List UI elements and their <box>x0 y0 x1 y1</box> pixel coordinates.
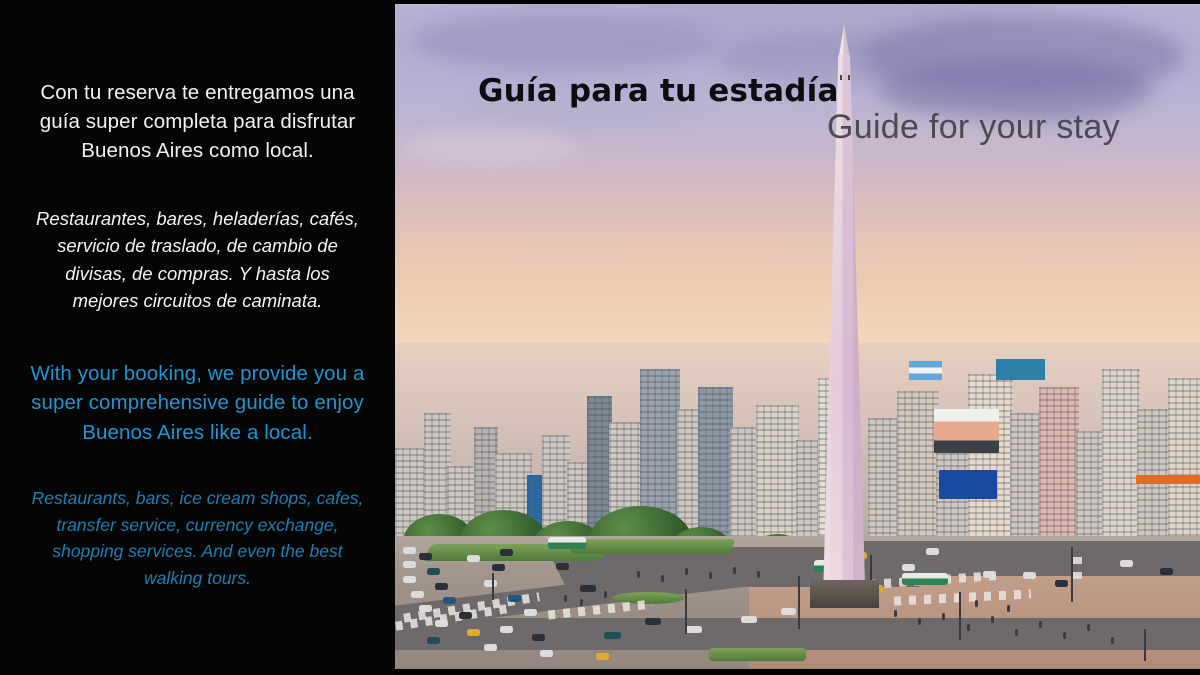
photo-bottom-letterbox <box>395 669 1200 675</box>
slide-root: Con tu reserva te entregamos una guía su… <box>0 0 1200 675</box>
billboard-blue <box>939 470 997 499</box>
billboard-screen <box>996 359 1046 381</box>
cloud <box>846 116 1055 157</box>
photo-panel: Guía para tu estadía Guide for your stay <box>395 0 1200 675</box>
paragraph-spanish-intro: Con tu reserva te entregamos una guía su… <box>22 78 373 165</box>
city-bus <box>548 537 586 549</box>
roadway <box>846 541 1200 576</box>
obelisco-photograph: Guía para tu estadía Guide for your stay <box>395 4 1200 669</box>
paragraph-spanish-detail: Restaurantes, bares, heladerías, cafés, … <box>22 205 373 315</box>
paragraph-english-intro: With your booking, we provide you a supe… <box>22 359 373 448</box>
left-text-panel: Con tu reserva te entregamos una guía su… <box>0 0 395 675</box>
building-awning-orange <box>1136 475 1200 484</box>
obelisk-base <box>810 580 879 608</box>
city-bus <box>902 573 948 585</box>
city-skyline <box>395 343 1200 562</box>
cloud <box>717 34 926 86</box>
obelisk-tip <box>838 24 850 59</box>
paragraph-english-detail: Restaurants, bars, ice cream shops, cafe… <box>22 485 373 591</box>
median-strip <box>709 648 806 661</box>
avenida-9-de-julio <box>395 536 1200 669</box>
billboard-large <box>934 409 998 453</box>
billboard-flag <box>909 361 943 381</box>
cloud <box>403 131 580 165</box>
obelisco-monument <box>823 24 865 589</box>
photo-top-letterbox <box>395 0 1200 4</box>
cloud <box>459 86 701 131</box>
obelisk-sunset-tint <box>823 55 865 589</box>
median-strip <box>570 539 736 554</box>
